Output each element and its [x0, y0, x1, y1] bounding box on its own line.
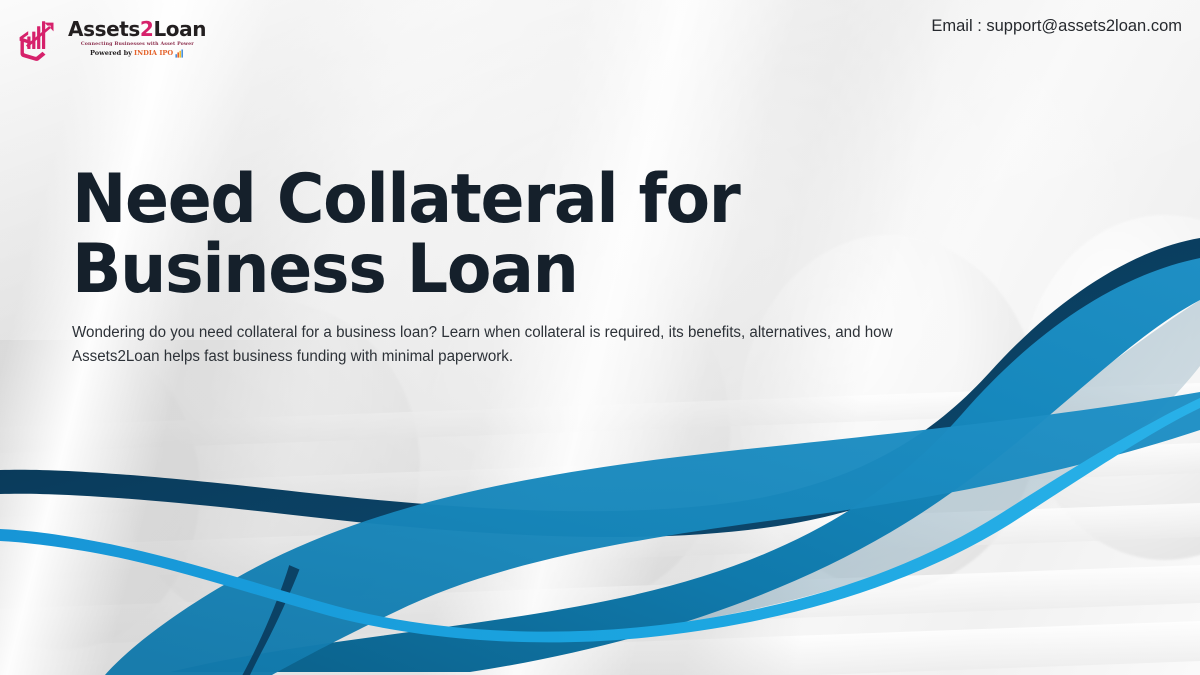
powered-by-brand: INDIA IPO: [134, 49, 173, 57]
powered-by-label: Powered by: [90, 49, 132, 57]
mini-bar-chart-icon: [175, 49, 184, 58]
logo-tagline: Connecting Businesses with Asset Power: [81, 42, 194, 47]
logo-powered-by: Powered by INDIA IPO: [90, 49, 184, 58]
hero-copy: Need Collateral for Business Loan Wonder…: [72, 165, 952, 368]
logo-wordmark-accent: 2: [140, 17, 154, 41]
hero-subtitle: Wondering do you need collateral for a b…: [72, 321, 918, 368]
banner-header: Assets2Loan Connecting Businesses with A…: [0, 0, 1200, 88]
brand-logo[interactable]: Assets2Loan Connecting Businesses with A…: [16, 14, 206, 62]
hero-banner: Assets2Loan Connecting Businesses with A…: [0, 0, 1200, 675]
bar-chart-arrow-hand-icon: [16, 14, 62, 62]
logo-wordmark-part1: Assets: [68, 17, 140, 41]
page-title: Need Collateral for Business Loan: [72, 165, 912, 305]
contact-email[interactable]: Email : support@assets2loan.com: [931, 17, 1182, 36]
logo-text-block: Assets2Loan Connecting Businesses with A…: [68, 19, 206, 58]
logo-wordmark-part2: Loan: [153, 17, 206, 41]
logo-wordmark: Assets2Loan: [68, 19, 206, 40]
